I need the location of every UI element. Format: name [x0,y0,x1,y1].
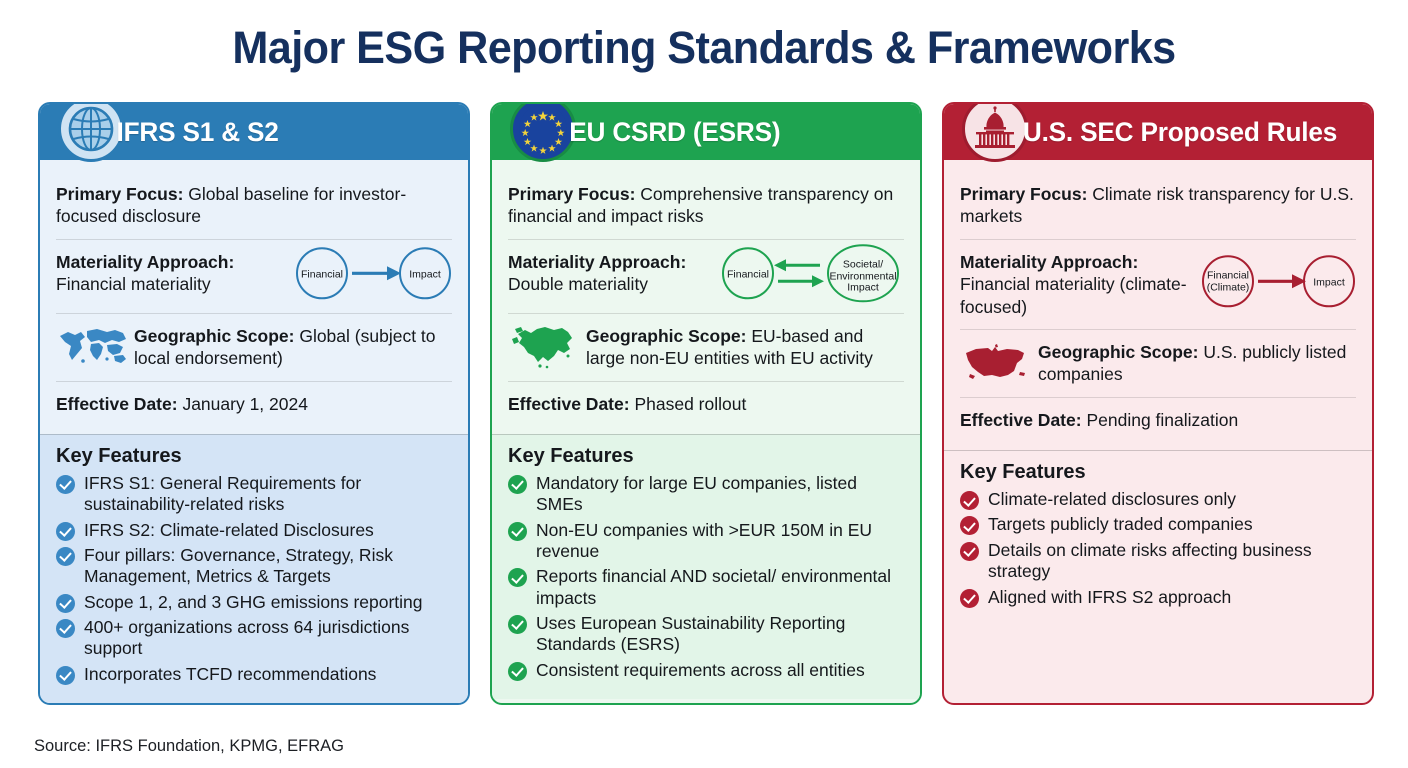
materiality-row: Materiality Approach: Financial material… [56,239,452,313]
geographic-label: Geographic Scope: [586,326,746,346]
diagram-right-line3: Impact [847,282,879,294]
list-item: Targets publicly traded companies [960,514,1356,535]
list-item: Consistent requirements across all entit… [508,660,904,681]
check-icon [508,615,527,634]
geographic-text: Geographic Scope: Global (subject to loc… [134,325,452,370]
card-ifrs: IFRS S1 & S2 Primary Focus: Global basel… [38,102,470,705]
check-icon [56,594,75,613]
materiality-label: Materiality Approach: [508,252,686,272]
list-item: IFRS S1: General Requirements for sustai… [56,473,452,516]
effective-date-row: Effective Date: Phased rollout [508,381,904,426]
features-csrd: Key Features Mandatory for large EU comp… [492,434,920,699]
feature-text: Incorporates TCFD recommendations [84,664,376,685]
list-item: Incorporates TCFD recommendations [56,664,452,685]
card-title-sec: U.S. SEC Proposed Rules [1023,117,1337,148]
card-sec: U.S. SEC Proposed Rules Primary Focus: C… [942,102,1374,705]
primary-focus-row: Primary Focus: Climate risk transparency… [960,172,1356,239]
effective-date-label: Effective Date: [56,394,178,414]
feature-text: IFRS S2: Climate-related Disclosures [84,520,374,541]
card-body-csrd: Primary Focus: Comprehensive transparenc… [492,160,920,426]
effective-date-row: Effective Date: January 1, 2024 [56,381,452,426]
check-icon [56,475,75,494]
effective-date-value: Pending finalization [1086,410,1238,430]
feature-text: Non-EU companies with >EUR 150M in EU re… [536,520,904,563]
materiality-value: Financial materiality [56,274,211,294]
features-ifrs: Key Features IFRS S1: General Requiremen… [40,434,468,703]
list-item: Details on climate risks affecting busin… [960,540,1356,583]
check-icon [56,547,75,566]
globe-icon [58,102,124,162]
effective-date-value: Phased rollout [634,394,746,414]
feature-text: Details on climate risks affecting busin… [988,540,1356,583]
materiality-diagram-csrd: Financial Societal/ Environmental Impact [718,241,904,312]
geographic-text: Geographic Scope: EU-based and large non… [586,325,904,370]
primary-focus-label: Primary Focus: [960,184,1087,204]
effective-date-row: Effective Date: Pending finalization [960,397,1356,442]
feature-text: 400+ organizations across 64 jurisdictio… [84,617,452,660]
geographic-label: Geographic Scope: [134,326,294,346]
effective-date-value: January 1, 2024 [182,394,308,414]
list-item: Reports financial AND societal/ environm… [508,566,904,609]
features-heading: Key Features [960,461,1356,484]
materiality-value: Double materiality [508,274,648,294]
materiality-diagram-ifrs: Financial Impact [292,243,452,310]
diagram-left-label: Financial [727,269,769,281]
card-header-csrd: EU CSRD (ESRS) [492,104,920,160]
feature-text: Targets publicly traded companies [988,514,1253,535]
list-item: Four pillars: Governance, Strategy, Risk… [56,545,452,588]
diagram-right-line1: Societal/ [843,259,883,271]
list-item: Non-EU companies with >EUR 150M in EU re… [508,520,904,563]
geographic-label: Geographic Scope: [1038,342,1198,362]
primary-focus-row: Primary Focus: Global baseline for inves… [56,172,452,239]
page-title: Major ESG Reporting Standards & Framewor… [28,0,1380,74]
geographic-text: Geographic Scope: U.S. publicly listed c… [1038,341,1356,386]
diagram-right-label: Impact [1313,277,1345,289]
list-item: Mandatory for large EU companies, listed… [508,473,904,516]
capitol-icon [962,102,1028,162]
card-csrd: EU CSRD (ESRS) Primary Focus: Comprehens… [490,102,922,705]
primary-focus-label: Primary Focus: [56,184,183,204]
materiality-label: Materiality Approach: [56,252,234,272]
diagram-left-line2: (Climate) [1207,282,1250,294]
feature-text: Uses European Sustainability Reporting S… [536,613,904,656]
feature-text: Mandatory for large EU companies, listed… [536,473,904,516]
card-body-ifrs: Primary Focus: Global baseline for inves… [40,160,468,426]
effective-date-label: Effective Date: [508,394,630,414]
diagram-left-label: Financial [301,269,343,281]
check-icon [960,516,979,535]
check-icon [508,522,527,541]
feature-text: Reports financial AND societal/ environm… [536,566,904,609]
diagram-left-line1: Financial [1207,270,1249,282]
list-item: Aligned with IFRS S2 approach [960,587,1356,608]
feature-text: Climate-related disclosures only [988,489,1236,510]
list-item: Scope 1, 2, and 3 GHG emissions reportin… [56,592,452,613]
check-icon [508,662,527,681]
feature-text: Scope 1, 2, and 3 GHG emissions reportin… [84,592,423,613]
list-item: Climate-related disclosures only [960,489,1356,510]
check-icon [508,475,527,494]
card-title-csrd: EU CSRD (ESRS) [569,117,780,148]
geographic-row: Geographic Scope: EU-based and large non… [508,313,904,381]
effective-date-label: Effective Date: [960,410,1082,430]
primary-focus-label: Primary Focus: [508,184,635,204]
check-icon [56,619,75,638]
features-sec: Key Features Climate-related disclosures… [944,450,1372,626]
source-note: Source: IFRS Foundation, KPMG, EFRAG [34,737,344,756]
list-item: 400+ organizations across 64 jurisdictio… [56,617,452,660]
feature-text: IFRS S1: General Requirements for sustai… [84,473,452,516]
features-heading: Key Features [56,445,452,468]
materiality-label: Materiality Approach: [960,252,1138,272]
card-title-ifrs: IFRS S1 & S2 [117,117,279,148]
materiality-row: Materiality Approach: Financial material… [960,239,1356,329]
list-item: IFRS S2: Climate-related Disclosures [56,520,452,541]
infographic-page: Major ESG Reporting Standards & Framewor… [0,0,1408,768]
cards-container: IFRS S1 & S2 Primary Focus: Global basel… [38,102,1374,705]
eu-flag-icon [510,102,576,162]
feature-text: Consistent requirements across all entit… [536,660,865,681]
card-body-sec: Primary Focus: Climate risk transparency… [944,160,1372,442]
usa-map-icon [960,338,1034,388]
materiality-row: Materiality Approach: Double materiality… [508,239,904,313]
geographic-row: Geographic Scope: U.S. publicly listed c… [960,329,1356,397]
feature-text: Four pillars: Governance, Strategy, Risk… [84,545,452,588]
check-icon [960,491,979,510]
list-item: Uses European Sustainability Reporting S… [508,613,904,656]
check-icon [960,589,979,608]
check-icon [508,568,527,587]
materiality-value: Financial materiality (climate-focused) [960,274,1187,316]
check-icon [56,522,75,541]
world-map-icon [56,322,130,372]
features-heading: Key Features [508,445,904,468]
europe-map-icon [508,322,582,372]
diagram-right-label: Impact [409,269,441,281]
materiality-diagram-sec: Financial (Climate) Impact [1198,251,1356,318]
primary-focus-row: Primary Focus: Comprehensive transparenc… [508,172,904,239]
check-icon [960,542,979,561]
card-header-sec: U.S. SEC Proposed Rules [944,104,1372,160]
card-header-ifrs: IFRS S1 & S2 [40,104,468,160]
check-icon [56,666,75,685]
geographic-row: Geographic Scope: Global (subject to loc… [56,313,452,381]
feature-text: Aligned with IFRS S2 approach [988,587,1231,608]
